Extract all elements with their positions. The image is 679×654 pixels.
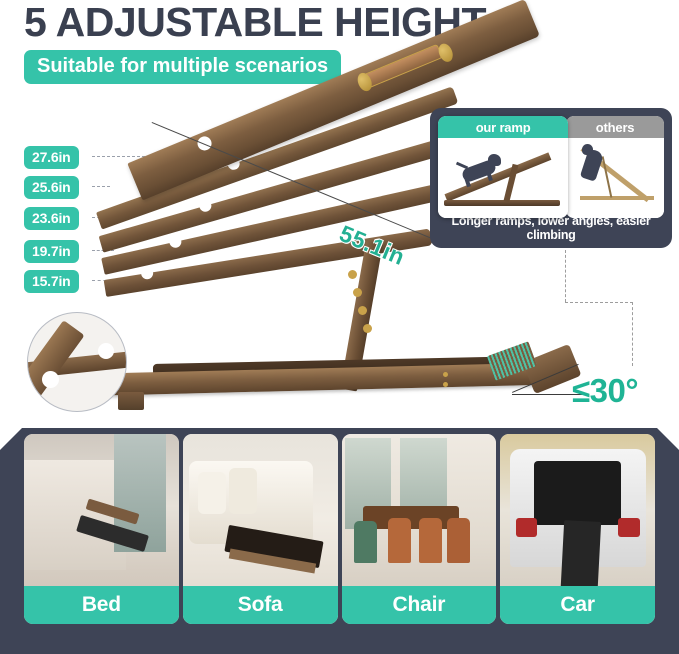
height-badge-1: 27.6in [24, 146, 79, 169]
scenario-card-chair[interactable]: Chair [342, 434, 497, 624]
height-badge-4: 19.7in [24, 240, 79, 263]
scenario-card-car[interactable]: Car [500, 434, 655, 624]
scenario-label-bed: Bed [24, 586, 179, 624]
strut-lock-notch [358, 306, 367, 315]
comparison-panel-ours: our ramp [438, 116, 568, 218]
comparison-caption: Longer ramps, lower angles, easier climb… [430, 214, 672, 242]
connector-dash-vertical-2 [632, 302, 633, 366]
infographic-page: 5 ADJUSTABLE HEIGHT Suitable for multipl… [0, 0, 679, 654]
comparison-panels: others our ramp [438, 116, 664, 218]
height-badge-2: 25.6in [24, 176, 79, 199]
scenario-cards: Bed Sofa Chair [0, 434, 679, 624]
hinge-plate [361, 44, 442, 89]
height-badge-5: 15.7in [24, 270, 79, 293]
our-ramp-illustration [438, 138, 568, 218]
comparison-panel-others: others [566, 116, 664, 218]
scenario-card-bed[interactable]: Bed [24, 434, 179, 624]
scenario-label-car: Car [500, 586, 655, 624]
strut-lock-notch [348, 270, 357, 279]
our-ramp-header: our ramp [438, 116, 568, 138]
strut-lock-notch [353, 288, 362, 297]
detail-notch-hole [98, 343, 114, 359]
detail-closeup-inset [27, 312, 127, 412]
strut-lock-notch [363, 324, 372, 333]
angle-label: ≤30° [572, 372, 638, 410]
subtitle-badge: Suitable for multiple scenarios [24, 50, 341, 84]
rivet [443, 372, 448, 377]
connector-dash-horizontal [565, 302, 633, 303]
plank-notch [140, 266, 154, 280]
others-header: others [566, 116, 664, 138]
hinge-pin-right [436, 42, 455, 65]
height-badge-3: 23.6in [24, 207, 79, 230]
scenario-card-sofa[interactable]: Sofa [183, 434, 338, 624]
rivet [443, 382, 448, 387]
comparison-box: others our ramp [430, 108, 672, 248]
plank-notch [168, 235, 182, 249]
scenario-label-sofa: Sofa [183, 586, 338, 624]
page-title: 5 ADJUSTABLE HEIGHT [24, 0, 486, 44]
scenario-label-chair: Chair [342, 586, 497, 624]
detail-swatch [118, 392, 144, 410]
connector-dash-vertical-1 [565, 250, 566, 302]
others-illustration [566, 138, 664, 218]
plank-notch [198, 198, 213, 213]
detail-notch-hole [42, 371, 59, 388]
